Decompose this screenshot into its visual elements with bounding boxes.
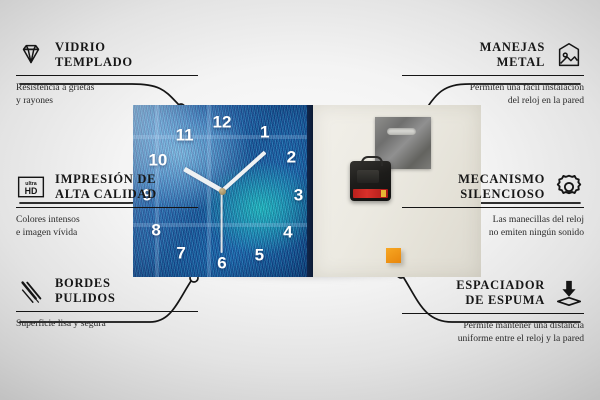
feature-vidrio-templado: VIDRIO TEMPLADO Resistencia a grietasy r…: [16, 40, 198, 107]
feature-title: MANEJAS METAL: [480, 40, 545, 71]
feature-description: Resistencia a grietasy rayones: [16, 81, 198, 107]
feature-description: Las manecillas del relojno emiten ningún…: [402, 213, 584, 239]
feature-title: BORDES PULIDOS: [55, 276, 115, 307]
clock-numeral-7: 7: [176, 245, 185, 262]
feature-rule: [402, 75, 584, 77]
clock-numeral-12: 12: [213, 114, 232, 131]
feature-manejas-metal: MANEJAS METAL Permiten una fácil instala…: [402, 40, 584, 107]
svg-text:HD: HD: [25, 186, 38, 196]
clock-numeral-5: 5: [255, 247, 264, 264]
feature-description: Permite mantener una distanciauniforme e…: [402, 319, 584, 345]
hanger-slot: [387, 128, 416, 135]
clock-numeral-3: 3: [294, 187, 303, 204]
mechanism-dial: [357, 170, 379, 183]
feature-description: Colores intensose imagen vívida: [16, 213, 198, 239]
clock-numeral-6: 6: [217, 255, 226, 272]
feature-rule: [402, 313, 584, 315]
feature-rule: [16, 207, 198, 209]
feature-rule: [402, 207, 584, 209]
foam-spacer-icon: [554, 278, 584, 308]
clock-minute-hand: [221, 151, 267, 193]
feature-espaciador-de-espuma: ESPACIADOR DE ESPUMA Permite mantener un…: [402, 278, 584, 345]
feature-impresion-alta-calidad: ultra HD IMPRESIÓN DE ALTA CALIDAD Color…: [16, 172, 198, 239]
feature-mecanismo-silencioso: MECANISMO SILENCIOSO Las manecillas del …: [402, 172, 584, 239]
feature-title: IMPRESIÓN DE ALTA CALIDAD: [55, 172, 157, 203]
clock-numeral-1: 1: [260, 124, 269, 141]
infographic-canvas: 12 1 2 3 4 5 6 7 8 9 10 11: [0, 0, 600, 400]
feature-title: VIDRIO TEMPLADO: [55, 40, 133, 71]
clock-numeral-10: 10: [148, 152, 167, 169]
battery-tip: [381, 190, 386, 197]
feature-description: Superficie lisa y segura: [16, 317, 198, 330]
clock-numeral-2: 2: [287, 149, 296, 166]
ultra-hd-icon: ultra HD: [16, 172, 46, 202]
diamond-icon: [16, 40, 46, 70]
clock-numeral-11: 11: [176, 127, 194, 144]
feature-rule: [16, 75, 198, 77]
feature-title: MECANISMO SILENCIOSO: [458, 172, 545, 203]
feature-rule: [16, 311, 198, 313]
battery: [353, 189, 388, 198]
foam-spacer-pad: [386, 248, 401, 263]
mechanism-loop: [361, 156, 383, 166]
picture-frame-icon: [554, 40, 584, 70]
feature-bordes-pulidos: BORDES PULIDOS Superficie lisa y segura: [16, 276, 198, 330]
gear-icon: [554, 172, 584, 202]
polished-edges-icon: [16, 276, 46, 306]
clock-mechanism-box: [350, 161, 391, 201]
feature-title: ESPACIADOR DE ESPUMA: [456, 278, 545, 309]
feature-description: Permiten una fácil instalacióndel reloj …: [402, 81, 584, 107]
clock-second-hand: [221, 191, 223, 253]
clock-hand-cap: [219, 188, 226, 195]
clock-numeral-4: 4: [283, 224, 292, 241]
